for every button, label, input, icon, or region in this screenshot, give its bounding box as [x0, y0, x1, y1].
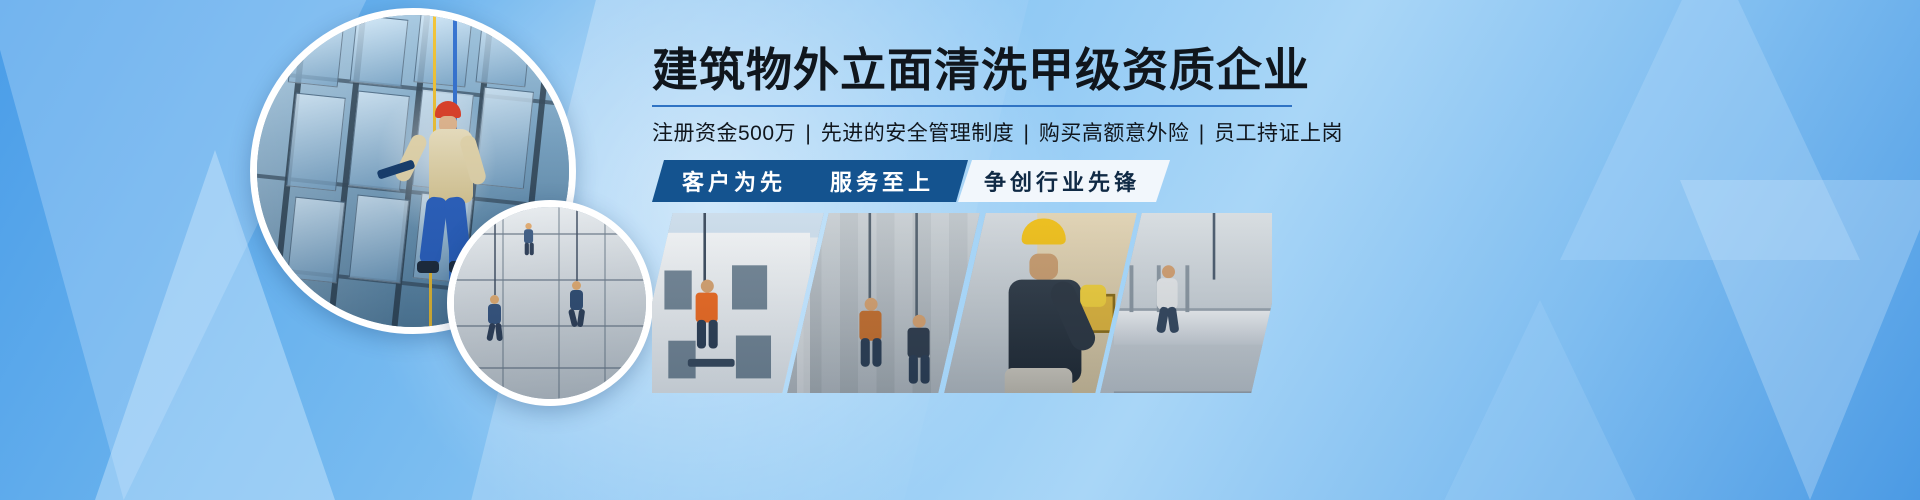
window-pane	[475, 13, 532, 88]
grey-facade-scene	[454, 207, 646, 399]
balcony-ledge	[1114, 392, 1272, 393]
subtitle-separator: |	[1196, 122, 1208, 145]
facade-background	[454, 207, 646, 399]
subtitle: 注册资金500万 | 先进的安全管理制度 | 购买高额意外险 | 员工持证上岗	[652, 117, 1292, 147]
worker-torso	[860, 311, 882, 341]
window	[735, 336, 770, 378]
worker-leg	[862, 339, 871, 368]
worker-leg	[525, 243, 529, 256]
suspended-platform	[688, 359, 735, 367]
bg-triangle-right-2	[1680, 180, 1920, 500]
rope	[915, 213, 918, 322]
worker-torso	[570, 290, 583, 310]
photo-circle-facade-work	[447, 200, 653, 406]
worker-pants	[1005, 369, 1073, 393]
balcony-ledge	[1114, 308, 1272, 344]
facade-joint	[604, 207, 606, 399]
window-pane	[286, 93, 346, 192]
tagline-bar: 客户为先 服务至上 争创行业先锋	[652, 160, 1170, 202]
worker-torso	[524, 229, 533, 243]
page-title: 建筑物外立面清洗甲级资质企业	[652, 46, 1292, 96]
facade-seam	[454, 233, 646, 235]
subtitle-separator: |	[802, 122, 814, 145]
orange-vest	[696, 293, 718, 323]
subtitle-part-2: 先进的安全管理制度	[821, 122, 1015, 145]
worker-leg	[697, 320, 706, 349]
rope	[494, 209, 496, 295]
window	[665, 270, 693, 310]
window	[732, 266, 767, 310]
facade-seam	[454, 325, 646, 327]
tagline-word-1: 客户为先	[682, 165, 786, 197]
subtitle-part-1: 注册资金500万	[652, 122, 796, 145]
facade-seam	[454, 367, 646, 369]
worker-leg	[909, 355, 918, 384]
worker-torso	[488, 304, 501, 324]
subtitle-part-3: 购买高额意外险	[1039, 122, 1190, 145]
window-pane	[350, 14, 409, 87]
worker-leg	[709, 320, 718, 349]
facade-seam	[454, 279, 646, 281]
photo-strip	[652, 213, 1272, 393]
headline-block: 建筑物外立面清洗甲级资质企业 注册资金500万 | 先进的安全管理制度 | 购买…	[652, 46, 1292, 147]
yellow-glove	[1079, 284, 1105, 306]
worker-face	[1028, 254, 1057, 280]
worker-head	[572, 281, 581, 290]
worker-head	[490, 295, 499, 304]
promo-banner: 建筑物外立面清洗甲级资质企业 注册资金500万 | 先进的安全管理制度 | 购买…	[0, 0, 1920, 500]
window-pane	[287, 197, 345, 284]
balcony-rail	[1185, 266, 1189, 313]
rope	[704, 213, 707, 289]
worker-leg	[920, 355, 929, 384]
window-pane	[288, 19, 344, 88]
title-divider	[652, 105, 1292, 107]
tagline-word-3: 争创行业先锋	[984, 165, 1140, 197]
facade-joint	[558, 207, 560, 399]
facade-joint	[502, 207, 504, 399]
tagline-dark-segment: 客户为先 服务至上	[652, 160, 968, 202]
subtitle-part-4: 员工持证上岗	[1214, 122, 1343, 145]
tagline-word-2: 服务至上	[830, 165, 934, 197]
worker-torso	[907, 328, 929, 358]
rope	[868, 213, 871, 308]
bg-triangle-right-3	[1430, 300, 1650, 500]
rope	[1212, 213, 1215, 280]
worker-leg	[873, 339, 882, 368]
worker-head	[913, 315, 926, 328]
worker-torso	[1157, 279, 1178, 310]
balcony-rail	[1130, 266, 1134, 313]
tagline-light-segment: 争创行业先锋	[958, 160, 1170, 202]
worker-boot	[417, 261, 439, 273]
window-pane	[413, 12, 472, 87]
worker-leg	[530, 243, 534, 256]
subtitle-separator: |	[1021, 122, 1033, 145]
rope	[576, 207, 578, 281]
